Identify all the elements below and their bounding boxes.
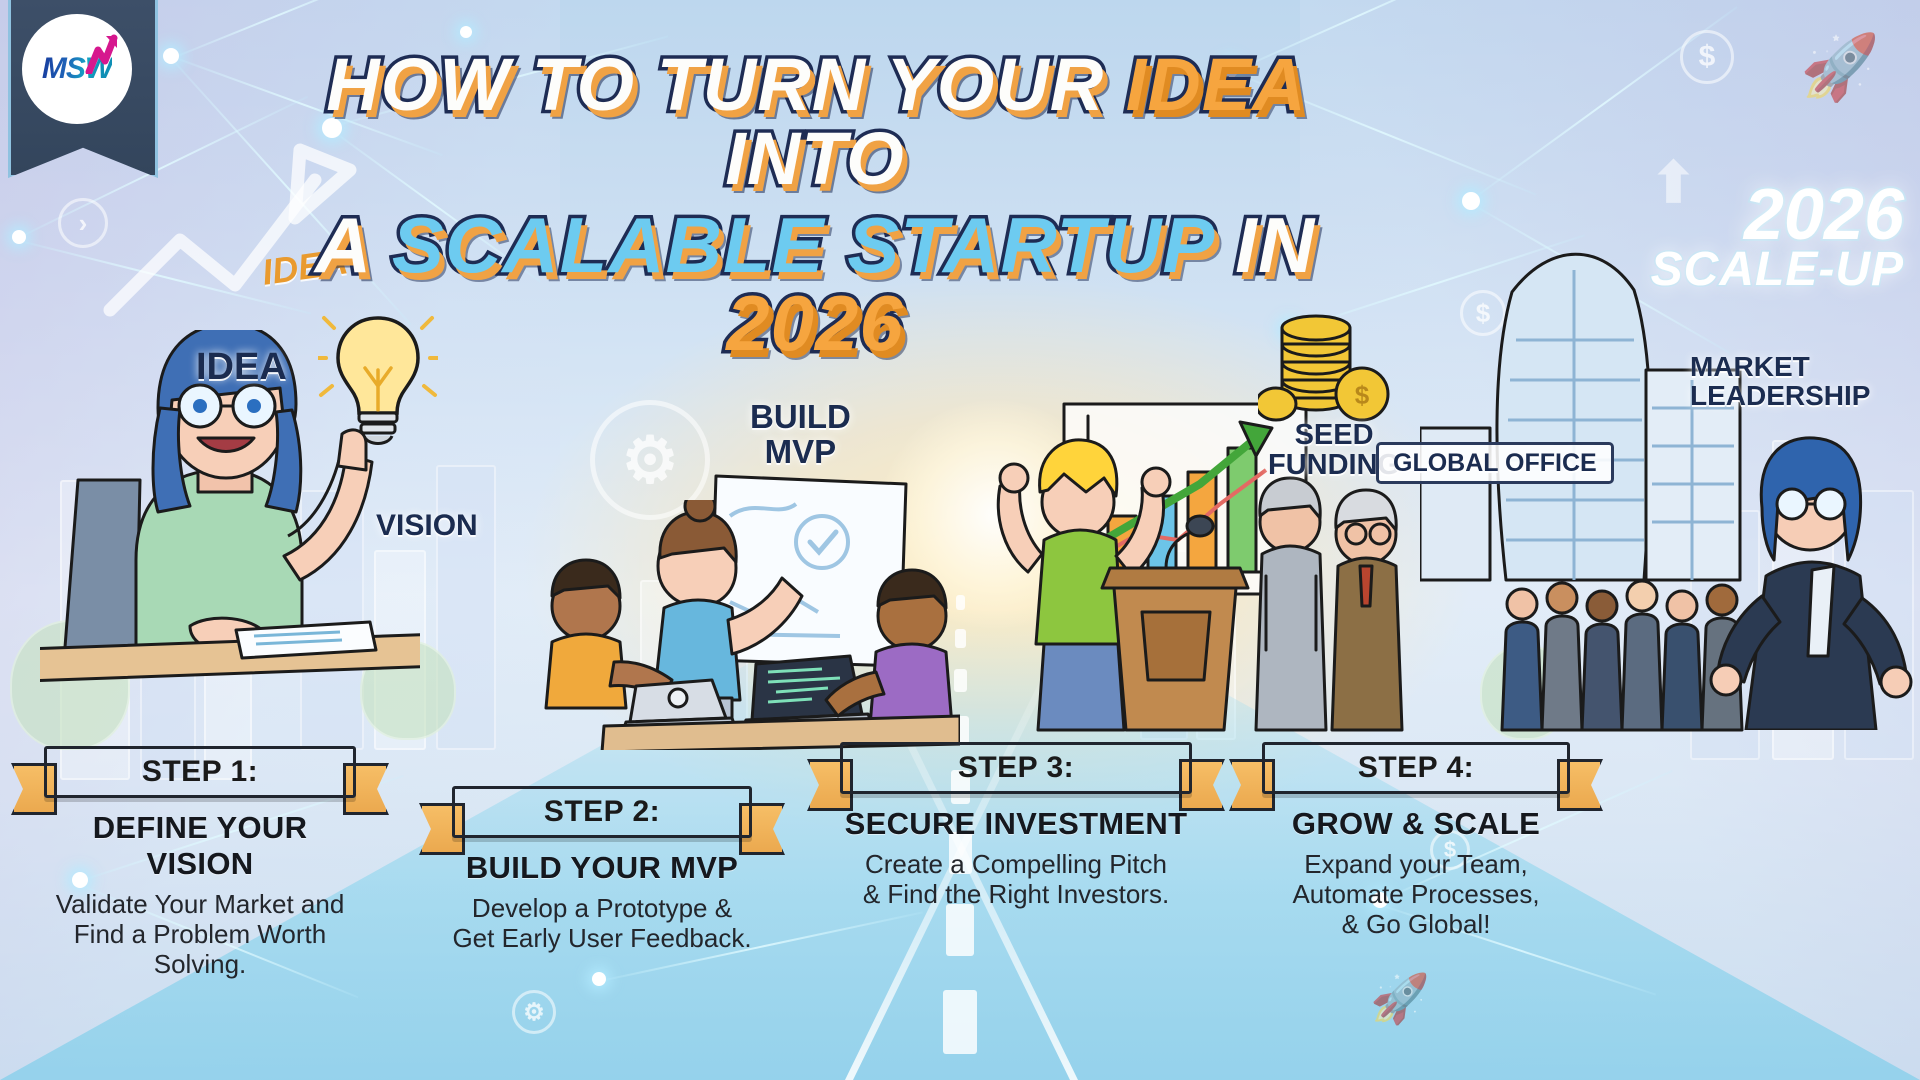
step-3-desc: Create a Compelling Pitch & Find the Rig…: [840, 849, 1192, 909]
callout-build-mvp-line2: MVP: [750, 435, 851, 470]
step-1-desc-line2: Find a Problem Worth: [44, 919, 356, 949]
title-line2-part2: IN: [1213, 201, 1316, 289]
title-line1-part1: HOW TO TURN YOUR: [326, 43, 1126, 126]
step-3-desc-line1: Create a Compelling Pitch: [840, 849, 1192, 879]
callout-idea: IDEA: [196, 348, 287, 388]
title-line2-part1: A: [315, 201, 392, 289]
callout-vision: VISION: [376, 510, 478, 542]
step-1-badge: STEP 1:: [44, 746, 356, 798]
step-1-badge-label: STEP 1:: [142, 755, 258, 789]
step-4-desc: Expand your Team, Automate Processes, & …: [1262, 849, 1570, 939]
title-line1-part2: INTO: [725, 117, 904, 200]
callout-build-mvp-line1: BUILD: [750, 400, 851, 435]
step-3-badge: STEP 3:: [840, 742, 1192, 794]
deco-rocket-top-right: 🚀: [1800, 30, 1880, 105]
step-2-title: BUILD YOUR MVP: [452, 850, 752, 886]
step-3-title: SECURE INVESTMENT: [840, 806, 1192, 842]
callout-build-mvp: BUILD MVP: [750, 400, 851, 469]
step-card-1[interactable]: STEP 1: DEFINE YOUR VISION Validate Your…: [44, 746, 356, 979]
step-2-desc: Develop a Prototype & Get Early User Fee…: [452, 893, 752, 953]
step-3-desc-line2: & Find the Right Investors.: [840, 879, 1192, 909]
deco-dollar-top-right: $: [1680, 30, 1734, 84]
step-4-title: GROW & SCALE: [1262, 806, 1570, 842]
step-card-4[interactable]: STEP 4: GROW & SCALE Expand your Team, A…: [1262, 742, 1570, 939]
callout-market-leadership: MARKET LEADERSHIP: [1690, 352, 1870, 411]
step-1-desc-line3: Solving.: [44, 949, 356, 979]
title-line2-year: 2026: [726, 279, 904, 367]
callout-market-leadership-line1: MARKET: [1690, 352, 1870, 381]
scale-up-badge: 2026 SCALE-UP: [1651, 182, 1904, 292]
step-1-desc-line1: Validate Your Market and: [44, 889, 356, 919]
title-line-1: HOW TO TURN YOUR IDEA INTO: [300, 48, 1330, 196]
callout-global-office: GLOBAL OFFICE: [1376, 442, 1614, 484]
deco-rocket-bottom: 🚀: [1370, 970, 1430, 1027]
mvp-team: [540, 500, 960, 750]
step-2-badge: STEP 2:: [452, 786, 752, 838]
leader-character: [1700, 430, 1920, 730]
growth-arrow-icon: [85, 34, 119, 74]
title-line-2: A SCALABLE STARTUP IN 2026: [300, 206, 1330, 362]
step-4-desc-line3: & Go Global!: [1262, 909, 1570, 939]
step-2-desc-line1: Develop a Prototype &: [452, 893, 752, 923]
step-2-desc-line2: Get Early User Feedback.: [452, 923, 752, 953]
page-title: HOW TO TURN YOUR IDEA INTO A SCALABLE ST…: [300, 48, 1330, 362]
step-1-desc: Validate Your Market and Find a Problem …: [44, 889, 356, 979]
founder-character: [40, 330, 420, 730]
scale-up-year: 2026: [1651, 182, 1904, 248]
step-4-desc-line1: Expand your Team,: [1262, 849, 1570, 879]
step-4-badge-label: STEP 4:: [1358, 751, 1474, 785]
step-4-desc-line2: Automate Processes,: [1262, 879, 1570, 909]
scale-up-label: SCALE-UP: [1651, 248, 1904, 292]
title-line1-highlight: IDEA: [1126, 43, 1304, 126]
deco-gear-bottom: ⚙: [512, 990, 556, 1034]
step-2-badge-label: STEP 2:: [544, 795, 660, 829]
step-card-3[interactable]: STEP 3: SECURE INVESTMENT Create a Compe…: [840, 742, 1192, 909]
title-line2-highlight: SCALABLE STARTUP: [392, 201, 1213, 289]
step-4-badge: STEP 4:: [1262, 742, 1570, 794]
step-card-2[interactable]: STEP 2: BUILD YOUR MVP Develop a Prototy…: [452, 786, 752, 953]
step-3-badge-label: STEP 3:: [958, 751, 1074, 785]
infographic-canvas: $ $ $ › ⚙ ⚙ 🚀 🚀 ⬆ MSW HOW TO TURN YOUR I…: [0, 0, 1920, 1080]
step-1-title: DEFINE YOUR VISION: [44, 810, 356, 882]
callout-market-leadership-line2: LEADERSHIP: [1690, 381, 1870, 410]
brand-logo[interactable]: MSW: [22, 14, 132, 124]
svg-text:$: $: [1355, 380, 1370, 410]
